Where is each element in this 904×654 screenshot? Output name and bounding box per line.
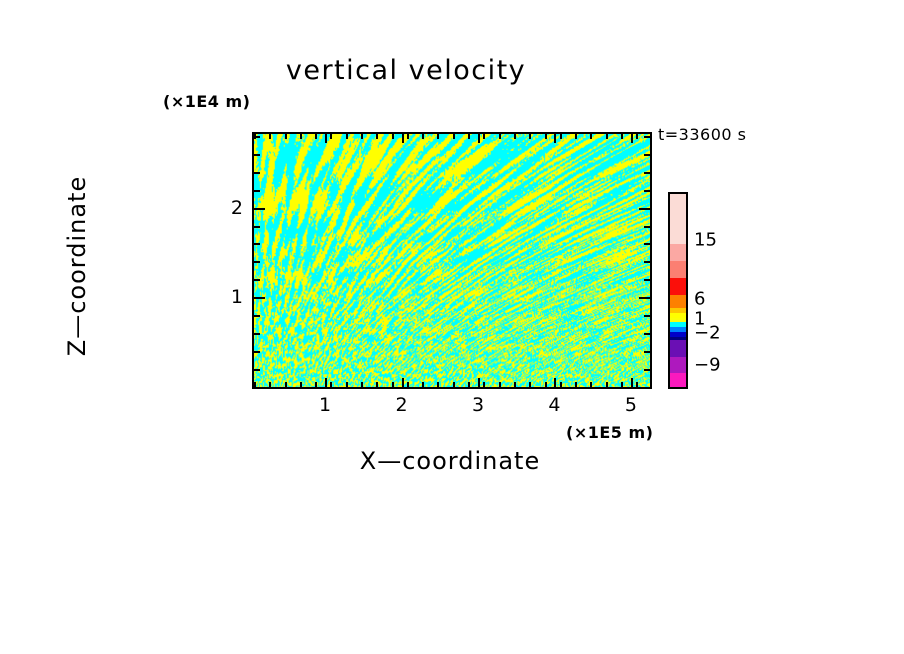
x-major-tick-top (554, 134, 556, 143)
x-axis-title-text: X—coordinate (360, 447, 540, 475)
x-minor-tick (621, 382, 623, 387)
x-major-tick-top (325, 134, 327, 143)
y-minor-tick-right (644, 351, 650, 353)
y-minor-tick (254, 261, 260, 263)
y-minor-tick (254, 172, 260, 174)
time-annotation: t=33600 s (658, 125, 747, 144)
x-tick-label: 2 (395, 394, 407, 416)
chart-title-text: vertical velocity (286, 55, 526, 86)
y-major-tick-right (639, 208, 650, 210)
x-minor-tick (529, 382, 531, 387)
x-major-tick (325, 378, 327, 387)
x-minor-tick-top (392, 134, 394, 139)
x-minor-tick-top (330, 134, 332, 139)
x-minor-tick-top (575, 134, 577, 139)
y-minor-tick (254, 351, 260, 353)
colorbar-band (670, 340, 686, 356)
y-minor-tick (254, 369, 260, 371)
x-minor-tick-top (560, 134, 562, 139)
y-major-tick (254, 208, 265, 210)
velocity-field-canvas (254, 134, 650, 387)
x-minor-tick-top (285, 134, 287, 139)
x-minor-tick (483, 382, 485, 387)
x-minor-tick-top (300, 134, 302, 139)
x-minor-tick-top (376, 134, 378, 139)
x-minor-tick (468, 382, 470, 387)
y-major-tick (254, 297, 265, 299)
y-minor-tick (254, 333, 260, 335)
x-minor-tick-top (621, 134, 623, 139)
x-axis-unit-label: (×1E5 m) (566, 423, 653, 442)
y-minor-tick (254, 315, 260, 317)
colorbar (668, 192, 688, 389)
y-tick-label: 2 (231, 197, 243, 219)
x-minor-tick-top (636, 134, 638, 139)
x-minor-tick-top (483, 134, 485, 139)
x-minor-tick-top (529, 134, 531, 139)
x-minor-tick (606, 382, 608, 387)
heatmap-plot-area (252, 132, 652, 389)
colorbar-band (670, 357, 686, 373)
y-minor-tick-right (644, 243, 650, 245)
x-minor-tick-top (315, 134, 317, 139)
y-minor-tick (254, 154, 260, 156)
y-minor-tick-right (644, 315, 650, 317)
x-minor-tick (285, 382, 287, 387)
x-minor-tick-top (361, 134, 363, 139)
x-axis-title: X—coordinate (0, 447, 904, 475)
colorbar-band (670, 194, 686, 244)
x-minor-tick (330, 382, 332, 387)
colorbar-tick-label: −2 (694, 322, 721, 343)
y-minor-tick-right (644, 136, 650, 138)
x-minor-tick (407, 382, 409, 387)
y-minor-tick-right (644, 226, 650, 228)
y-minor-tick-right (644, 154, 650, 156)
x-major-tick-top (478, 134, 480, 143)
x-minor-tick-top (514, 134, 516, 139)
x-major-tick-top (402, 134, 404, 143)
x-minor-tick-top (422, 134, 424, 139)
x-minor-tick (514, 382, 516, 387)
x-minor-tick-top (545, 134, 547, 139)
y-minor-tick (254, 387, 260, 389)
colorbar-band (670, 261, 686, 277)
x-minor-tick-top (437, 134, 439, 139)
x-minor-tick-top (453, 134, 455, 139)
y-minor-tick (254, 190, 260, 192)
colorbar-band (670, 244, 686, 261)
x-minor-tick (269, 382, 271, 387)
y-major-tick-right (639, 297, 650, 299)
y-minor-tick-right (644, 333, 650, 335)
x-minor-tick (575, 382, 577, 387)
colorbar-band (670, 295, 686, 308)
x-minor-tick (300, 382, 302, 387)
x-minor-tick (636, 382, 638, 387)
x-tick-label: 4 (548, 394, 560, 416)
x-tick-label: 1 (319, 394, 331, 416)
colorbar-tick-label: 15 (694, 230, 717, 251)
colorbar-tick-label: −9 (694, 355, 721, 376)
colorbar-band (670, 373, 686, 387)
y-axis-unit-label: (×1E4 m) (163, 92, 250, 111)
y-minor-tick (254, 243, 260, 245)
x-minor-tick-top (606, 134, 608, 139)
x-tick-label: 5 (625, 394, 637, 416)
y-minor-tick-right (644, 190, 650, 192)
x-minor-tick-top (269, 134, 271, 139)
x-minor-tick (361, 382, 363, 387)
x-minor-tick-top (590, 134, 592, 139)
colorbar-band (670, 278, 686, 295)
x-tick-label: 3 (472, 394, 484, 416)
x-major-tick (478, 378, 480, 387)
x-minor-tick (590, 382, 592, 387)
x-minor-tick (437, 382, 439, 387)
y-axis-title: Z—coordinate (63, 166, 91, 366)
x-minor-tick-top (468, 134, 470, 139)
x-major-tick (402, 378, 404, 387)
x-minor-tick (545, 382, 547, 387)
x-minor-tick (453, 382, 455, 387)
x-major-tick-top (631, 134, 633, 143)
x-minor-tick (499, 382, 501, 387)
colorbar-tick-label: 6 (694, 289, 705, 310)
y-minor-tick-right (644, 369, 650, 371)
y-minor-tick (254, 226, 260, 228)
y-minor-tick-right (644, 387, 650, 389)
x-minor-tick (392, 382, 394, 387)
y-minor-tick-right (644, 261, 650, 263)
x-minor-tick-top (407, 134, 409, 139)
x-major-tick (554, 378, 556, 387)
y-minor-tick (254, 279, 260, 281)
y-tick-label: 1 (231, 286, 243, 308)
x-minor-tick (315, 382, 317, 387)
y-minor-tick (254, 136, 260, 138)
x-minor-tick (376, 382, 378, 387)
x-minor-tick (560, 382, 562, 387)
x-minor-tick (422, 382, 424, 387)
x-minor-tick-top (499, 134, 501, 139)
x-minor-tick-top (346, 134, 348, 139)
y-minor-tick-right (644, 279, 650, 281)
x-major-tick (631, 378, 633, 387)
chart-title: vertical velocity (0, 55, 904, 86)
x-minor-tick (346, 382, 348, 387)
y-minor-tick-right (644, 172, 650, 174)
